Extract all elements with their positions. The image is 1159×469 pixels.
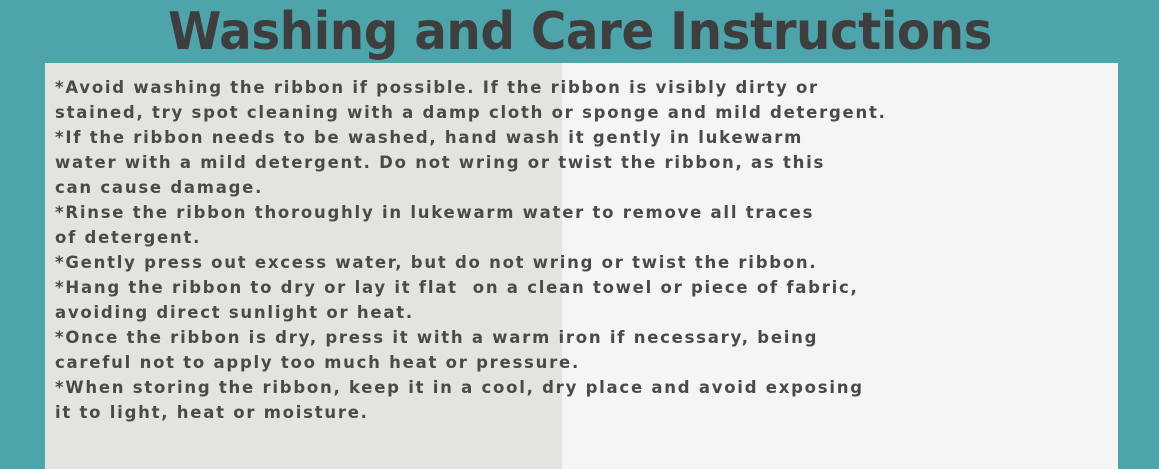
instruction-line: careful not to apply too much heat or pr…: [55, 350, 1110, 375]
care-instructions-poster: Washing and Care Instructions *Avoid was…: [0, 0, 1159, 469]
instruction-line: stained, try spot cleaning with a damp c…: [55, 100, 1110, 125]
instruction-line: *Gently press out excess water, but do n…: [55, 250, 1110, 275]
instruction-line: avoiding direct sunlight or heat.: [55, 300, 1110, 325]
instruction-line: can cause damage.: [55, 175, 1110, 200]
instruction-line: *Hang the ribbon to dry or lay it flat o…: [55, 275, 1110, 300]
instructions-list: *Avoid washing the ribbon if possible. I…: [55, 75, 1110, 425]
instruction-line: *Once the ribbon is dry, press it with a…: [55, 325, 1110, 350]
page-title: Washing and Care Instructions: [168, 6, 992, 58]
instruction-line: water with a mild detergent. Do not wrin…: [55, 150, 1110, 175]
instruction-line: *Avoid washing the ribbon if possible. I…: [55, 75, 1110, 100]
instructions-panel: *Avoid washing the ribbon if possible. I…: [45, 63, 1118, 469]
instruction-line: of detergent.: [55, 225, 1110, 250]
instruction-line: *If the ribbon needs to be washed, hand …: [55, 125, 1110, 150]
poster-title-bar: Washing and Care Instructions: [0, 0, 1159, 63]
instruction-line: it to light, heat or moisture.: [55, 400, 1110, 425]
instruction-line: *Rinse the ribbon thoroughly in lukewarm…: [55, 200, 1110, 225]
instruction-line: *When storing the ribbon, keep it in a c…: [55, 375, 1110, 400]
